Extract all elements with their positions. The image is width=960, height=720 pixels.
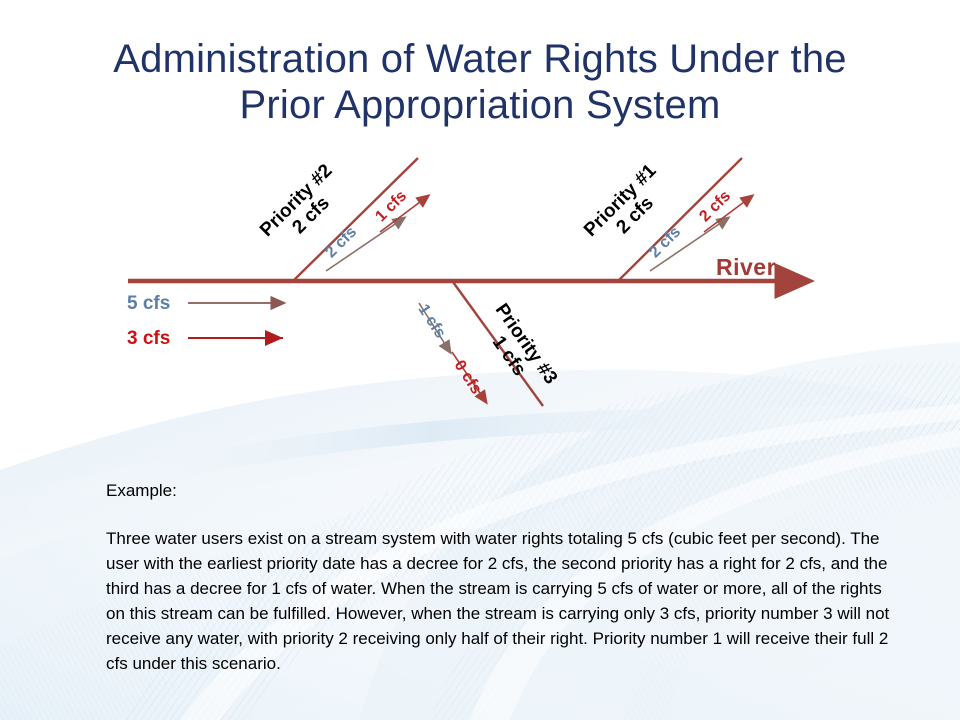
example-heading: Example: (106, 481, 177, 501)
slide-canvas: Administration of Water Rights Under the… (0, 0, 960, 720)
river-label: River (716, 254, 776, 281)
inflow-label-5cfs: 5 cfs (127, 294, 170, 313)
inflow-label-3cfs: 3 cfs (127, 329, 170, 348)
example-body-text: Three water users exist on a stream syst… (106, 527, 896, 677)
